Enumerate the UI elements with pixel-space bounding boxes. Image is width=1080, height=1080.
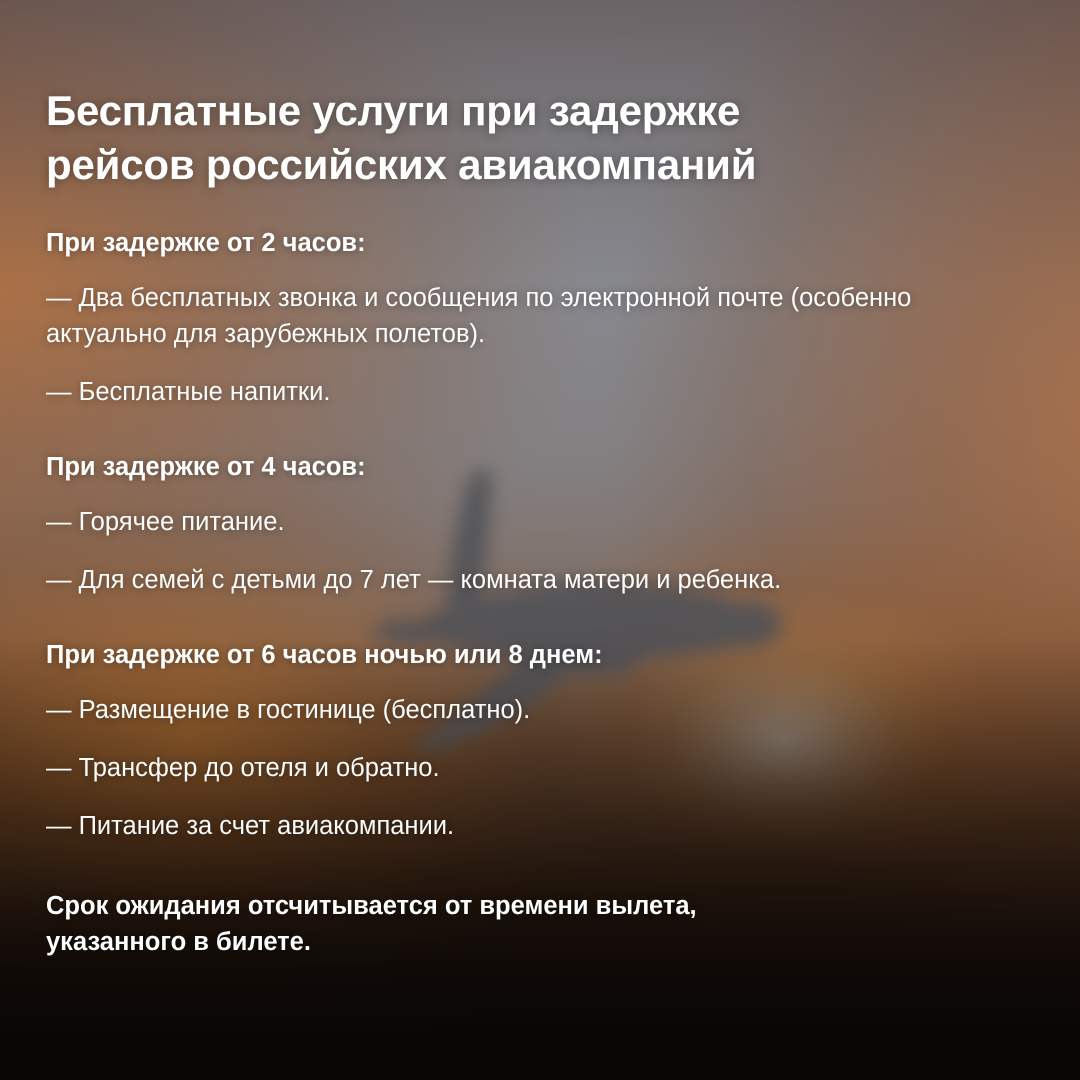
- section-delay-6h-8h: При задержке от 6 часов ночью или 8 днем…: [46, 638, 1036, 844]
- list-item: — Трансфер до отеля и обратно.: [46, 750, 1036, 786]
- list-item: — Два бесплатных звонка и сообщения по э…: [46, 280, 1036, 352]
- section-delay-4h: При задержке от 4 часов: — Горячее питан…: [46, 450, 1036, 598]
- footnote: Срок ожидания отсчитывается от времени в…: [46, 888, 1036, 960]
- footnote-line-1: Срок ожидания отсчитывается от времени в…: [46, 888, 1036, 924]
- poster-content: Бесплатные услуги при задержке рейсов ро…: [46, 84, 1036, 960]
- list-item: — Бесплатные напитки.: [46, 374, 1036, 410]
- poster: Бесплатные услуги при задержке рейсов ро…: [0, 0, 1080, 1080]
- list-item: — Размещение в гостинице (бесплатно).: [46, 692, 1036, 728]
- list-item: — Питание за счет авиакомпании.: [46, 808, 1036, 844]
- section-heading-4h: При задержке от 4 часов:: [46, 450, 1036, 484]
- section-heading-2h: При задержке от 2 часов:: [46, 226, 1036, 260]
- section-heading-6h-8h: При задержке от 6 часов ночью или 8 днем…: [46, 638, 1036, 672]
- page-title: Бесплатные услуги при задержке рейсов ро…: [46, 84, 1036, 192]
- list-item: — Для семей с детьми до 7 лет — комната …: [46, 562, 1036, 598]
- title-line-2: рейсов российских авиакомпаний: [46, 138, 1036, 192]
- footnote-line-2: указанного в билете.: [46, 924, 1036, 960]
- section-delay-2h: При задержке от 2 часов: — Два бесплатны…: [46, 226, 1036, 410]
- list-item: — Горячее питание.: [46, 504, 1036, 540]
- title-line-1: Бесплатные услуги при задержке: [46, 84, 1036, 138]
